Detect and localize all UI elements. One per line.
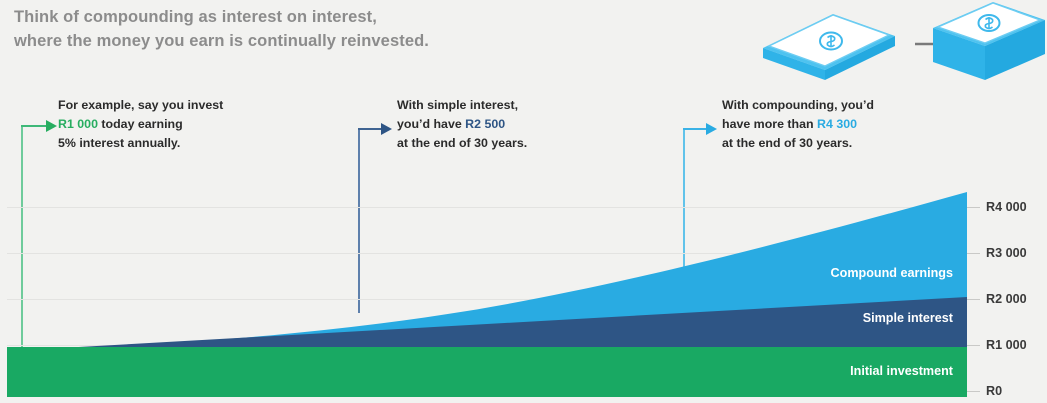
callout-2-line-3: at the end of 30 years.: [397, 134, 527, 153]
band-label-simple-interest: Simple interest: [863, 311, 953, 325]
callout-3-amount: R4 300: [817, 117, 857, 131]
callout-3-line-1: With compounding, you’d: [722, 96, 874, 115]
callout-2-line-2: you’d have R2 500: [397, 115, 527, 134]
callout-2-line-2-pre: you’d have: [397, 117, 465, 131]
callout-1-line-1: For example, say you invest: [58, 96, 223, 115]
y-tick-label: R2 000: [986, 292, 1027, 306]
y-tick-2000: R2 000: [967, 292, 1027, 306]
page-title: Think of compounding as interest on inte…: [14, 6, 634, 54]
area-initial-investment: [7, 347, 967, 397]
infographic-root: Think of compounding as interest on inte…: [0, 0, 1047, 403]
callout-2-amount: R2 500: [465, 117, 505, 131]
tick-dash-icon: [967, 345, 980, 346]
money-growth-illustration: [755, 0, 1047, 80]
y-tick-label: R3 000: [986, 246, 1027, 260]
headline-line-2: where the money you earn is continually …: [14, 30, 634, 54]
tick-dash-icon: [967, 207, 980, 208]
callout-3-line-2-pre: have more than: [722, 117, 817, 131]
y-tick-1000: R1 000: [967, 338, 1027, 352]
tick-dash-icon: [967, 253, 980, 254]
cash-stack-large-icon: [933, 2, 1045, 80]
band-label-compound-earnings: Compound earnings: [831, 266, 953, 280]
initial-investment-callout: For example, say you invest R1 000 today…: [58, 96, 223, 153]
callout-3-line-3: at the end of 30 years.: [722, 134, 874, 153]
callout-1-amount: R1 000: [58, 117, 98, 131]
callout-2-line-1: With simple interest,: [397, 96, 527, 115]
tick-dash-icon: [967, 299, 980, 300]
callout-1-line-3: 5% interest annually.: [58, 134, 223, 153]
callout-3-line-2: have more than R4 300: [722, 115, 874, 134]
y-tick-label: R4 000: [986, 200, 1027, 214]
y-axis: R4 000 R3 000 R2 000 R1 000 R0: [967, 186, 1047, 403]
simple-interest-callout: With simple interest, you’d have R2 500 …: [397, 96, 527, 153]
headline-line-1: Think of compounding as interest on inte…: [14, 6, 634, 30]
cash-stack-small-icon: [763, 14, 895, 80]
compound-earnings-callout: With compounding, you’d have more than R…: [722, 96, 874, 153]
y-tick-4000: R4 000: [967, 200, 1027, 214]
y-tick-label: R0: [986, 384, 1002, 398]
stacked-area-svg: [7, 186, 967, 397]
callout-1-line-2: R1 000 today earning: [58, 115, 223, 134]
money-illustration-svg: [755, 0, 1047, 80]
y-tick-0: R0: [967, 384, 1002, 398]
band-label-initial-investment: Initial investment: [850, 364, 953, 378]
y-tick-label: R1 000: [986, 338, 1027, 352]
y-tick-3000: R3 000: [967, 246, 1027, 260]
tick-dash-icon: [967, 391, 980, 392]
compound-growth-chart: Compound earnings Simple interest Initia…: [7, 186, 967, 397]
callout-1-line-2-post: today earning: [98, 117, 183, 131]
